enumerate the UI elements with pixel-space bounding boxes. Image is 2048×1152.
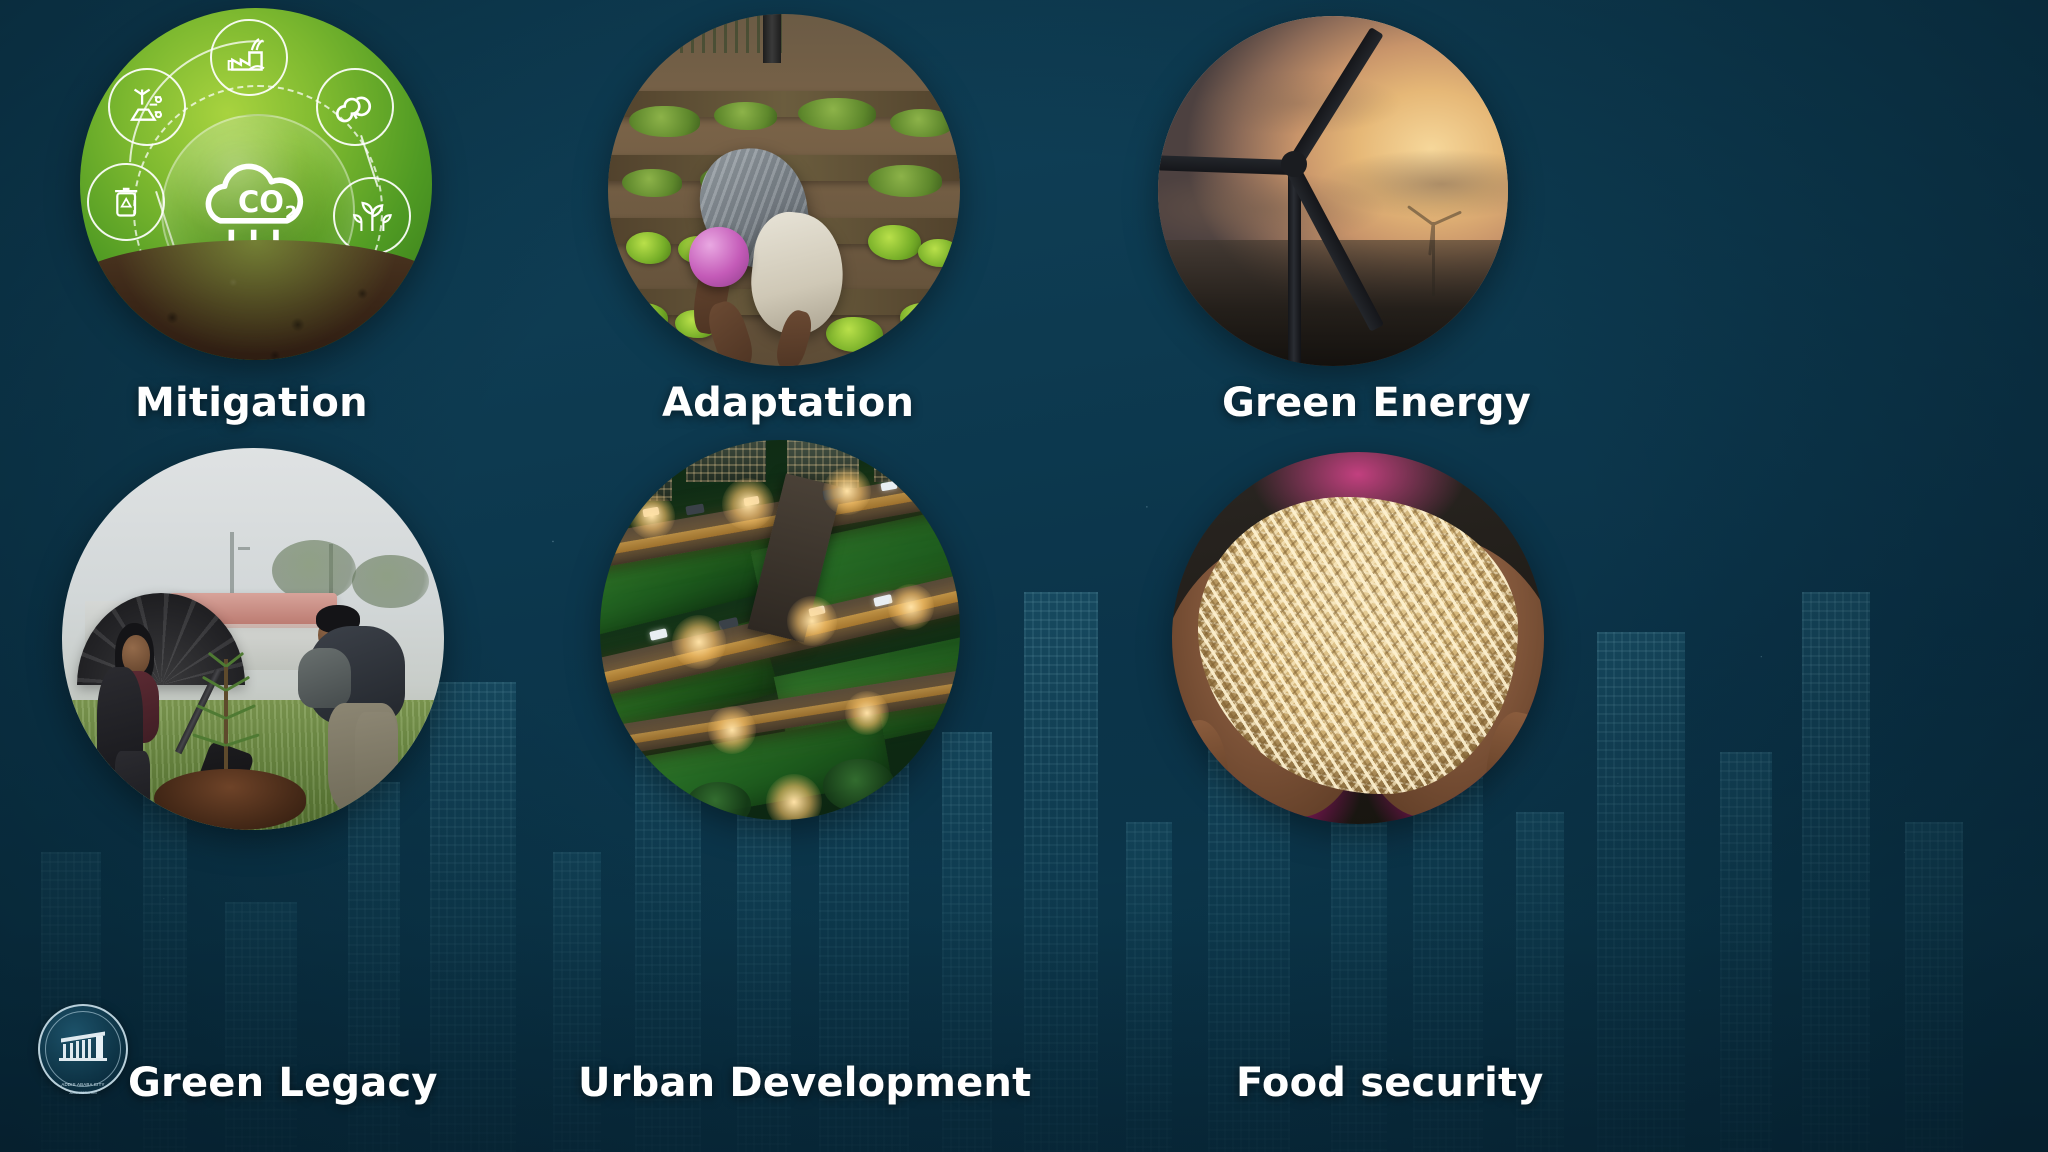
wind-turbine-icon bbox=[1158, 16, 1508, 366]
green-energy-label: Green Energy bbox=[1222, 380, 1531, 426]
institutional-seal-logo[interactable]: ADDIS ABABA CITY ADMINISTRATION bbox=[38, 1004, 128, 1094]
mitigation-label: Mitigation bbox=[135, 380, 368, 426]
green-legacy-image[interactable] bbox=[62, 448, 444, 830]
mitigation-image[interactable]: CO 2 bbox=[80, 8, 432, 360]
seal-text-secondary: ADMINISTRATION bbox=[46, 1091, 120, 1095]
adaptation-fence bbox=[636, 14, 784, 53]
renewable-energy-grid-icon bbox=[108, 68, 186, 146]
adaptation-photo bbox=[608, 14, 960, 366]
green-energy-photo bbox=[1158, 16, 1508, 366]
green-legacy-label: Green Legacy bbox=[128, 1060, 438, 1106]
adaptation-image[interactable] bbox=[608, 14, 960, 366]
seal-text-primary: ADDIS ABABA CITY bbox=[46, 1082, 120, 1088]
urban-development-image[interactable] bbox=[600, 440, 960, 820]
poster-canvas: CO 2 bbox=[0, 0, 2048, 1152]
food-security-image[interactable] bbox=[1172, 452, 1544, 824]
mitigation-illustration: CO 2 bbox=[80, 8, 432, 360]
food-security-label: Food security bbox=[1236, 1060, 1544, 1106]
urban-development-photo bbox=[600, 440, 960, 820]
food-security-photo bbox=[1172, 452, 1544, 824]
adaptation-label: Adaptation bbox=[662, 380, 914, 426]
adaptation-pole bbox=[763, 14, 781, 63]
urban-development-label: Urban Development bbox=[578, 1060, 1031, 1106]
svg-text:CO: CO bbox=[238, 185, 284, 219]
circular-economy-infinity-icon bbox=[316, 68, 394, 146]
seal-inner-ring: ADDIS ABABA CITY ADMINISTRATION bbox=[45, 1011, 121, 1087]
green-energy-image[interactable] bbox=[1158, 16, 1508, 366]
factory-emissions-icon bbox=[210, 19, 288, 97]
recycling-bin-icon bbox=[87, 163, 165, 241]
green-legacy-photo bbox=[62, 448, 444, 830]
wheat-grain-pile bbox=[1198, 497, 1518, 795]
seal-building-icon bbox=[61, 1033, 105, 1066]
mitigation-soil bbox=[80, 240, 432, 360]
planting-soil-mound bbox=[154, 769, 307, 830]
svg-text:2: 2 bbox=[285, 203, 297, 224]
adaptation-farmer bbox=[685, 134, 882, 366]
adaptation-farmer-headscarf bbox=[689, 227, 748, 287]
